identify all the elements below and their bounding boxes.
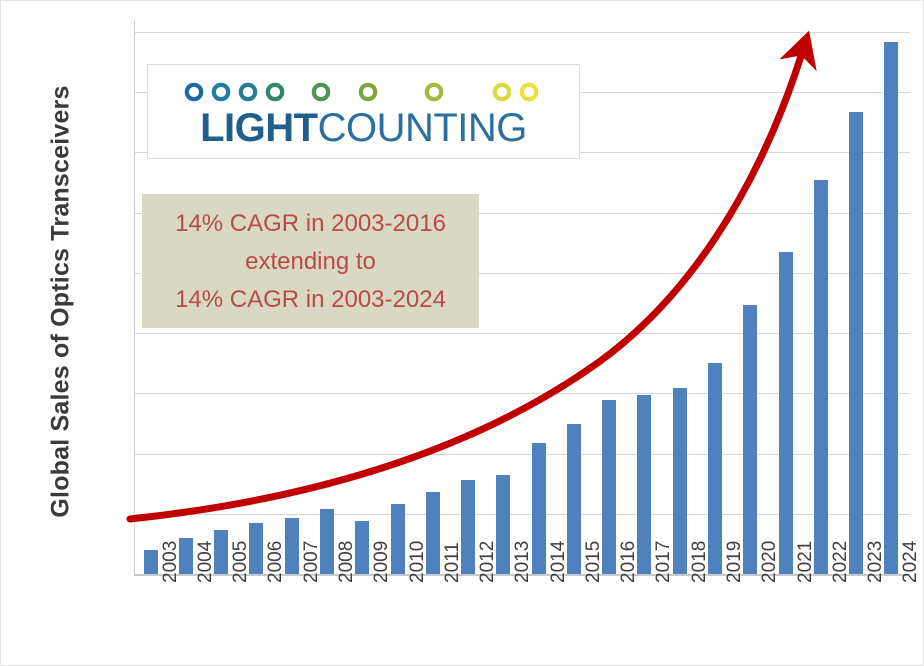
bar	[144, 550, 158, 574]
x-tick-label: 2007	[282, 583, 304, 653]
x-tick-label: 2020	[740, 583, 762, 653]
x-tick-label: 2022	[811, 583, 833, 653]
bar	[391, 504, 405, 574]
bar	[814, 180, 828, 574]
logo-word-counting: COUNTING	[318, 106, 527, 150]
x-tick-label: 2009	[352, 583, 374, 653]
x-tick-label: 2017	[634, 583, 656, 653]
logo-node-circle	[314, 85, 328, 99]
cagr-annotation-line-1: 14% CAGR in 2003-2016	[175, 205, 446, 243]
x-tick-label: 2016	[599, 583, 621, 653]
bar	[849, 112, 863, 574]
logo-node-circle	[268, 85, 282, 99]
logo-wordmark: LIGHTCOUNTING	[148, 105, 579, 151]
bar	[779, 252, 793, 574]
gridline	[134, 454, 910, 455]
x-tick-label: 2006	[246, 583, 268, 653]
cagr-annotation-box: 14% CAGR in 2003-2016 extending to 14% C…	[142, 194, 479, 328]
x-tick-label: 2014	[529, 583, 551, 653]
x-tick-label: 2015	[564, 583, 586, 653]
x-tick-label: 2008	[317, 583, 339, 653]
cagr-annotation-line-2: extending to	[245, 243, 376, 281]
x-tick-label: 2021	[776, 583, 798, 653]
logo-node-circle	[495, 85, 509, 99]
x-tick-label: 2019	[705, 583, 727, 653]
bar	[673, 388, 687, 574]
logo-word-light: LIGHT	[200, 106, 317, 150]
logo-node-circle	[427, 85, 441, 99]
x-tick-label: 2018	[670, 583, 692, 653]
x-tick-label: 2024	[881, 583, 903, 653]
bar	[285, 518, 299, 574]
x-tick-label: 2012	[458, 583, 480, 653]
y-axis-line	[134, 21, 135, 575]
logo-node-circle	[522, 85, 536, 99]
x-tick-label: 2011	[423, 583, 445, 653]
logo-node-circle	[241, 85, 255, 99]
cagr-annotation-line-3: 14% CAGR in 2003-2024	[175, 281, 446, 319]
chart-canvas: Global Sales of Optics Transceivers 2003…	[0, 0, 924, 666]
logo-gradient-line-icon	[172, 77, 557, 107]
gridline	[134, 32, 910, 33]
x-tick-label: 2013	[493, 583, 515, 653]
logo-node-circle	[361, 85, 375, 99]
gridline	[134, 514, 910, 515]
y-axis-title: Global Sales of Optics Transceivers	[47, 85, 76, 517]
y-axis-title-container: Global Sales of Optics Transceivers	[1, 1, 121, 601]
bar	[532, 443, 546, 574]
logo-node-circle	[214, 85, 228, 99]
x-tick-label: 2004	[176, 583, 198, 653]
x-tick-label: 2023	[846, 583, 868, 653]
x-tick-label: 2010	[388, 583, 410, 653]
x-tick-label: 2005	[211, 583, 233, 653]
lightcounting-logo-card: LIGHTCOUNTING	[147, 64, 580, 159]
bar	[743, 305, 757, 574]
bar	[884, 42, 898, 574]
gridline	[134, 333, 910, 334]
x-tick-label: 2003	[141, 583, 163, 653]
gridline	[134, 393, 910, 394]
logo-node-circle	[187, 85, 201, 99]
